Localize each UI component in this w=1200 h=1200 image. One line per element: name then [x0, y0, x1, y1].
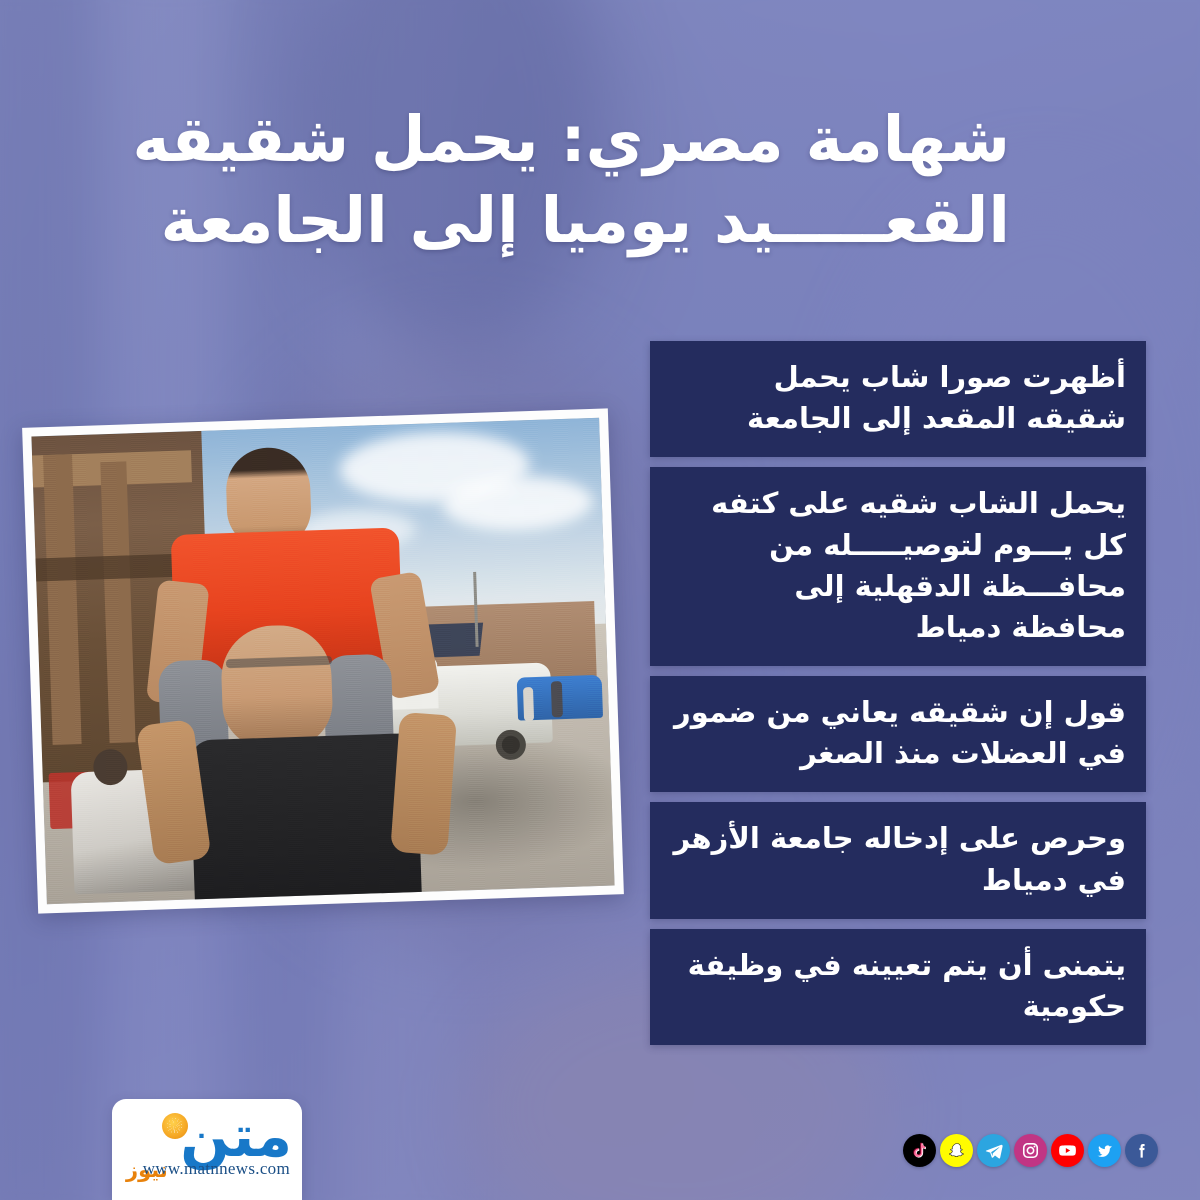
fact-box: قول إن شقيقه يعاني من ضمور في العضلات من…	[650, 676, 1146, 792]
logo-wordmark: متن	[180, 1107, 292, 1165]
social-links	[903, 1134, 1158, 1167]
youtube-icon[interactable]	[1051, 1134, 1084, 1167]
fact-box: أظهرت صورا شاب يحمل شقيقه المقعد إلى الج…	[650, 341, 1146, 457]
news-photo	[31, 418, 614, 905]
facebook-icon[interactable]	[1125, 1134, 1158, 1167]
fact-box: وحرص على إدخاله جامعة الأزهر في دمياط	[650, 802, 1146, 918]
headline-line-2: القعـــــيد يوميا إلى الجامعة	[180, 181, 1010, 262]
site-logo[interactable]: متن نيوز www.matnnews.com	[112, 1099, 302, 1200]
snapchat-icon[interactable]	[940, 1134, 973, 1167]
page-title: شهامة مصري: يحمل شقيقه القعـــــيد يوميا…	[180, 100, 1010, 261]
infographic-poster: شهامة مصري: يحمل شقيقه القعـــــيد يوميا…	[0, 0, 1200, 1200]
twitter-icon[interactable]	[1088, 1134, 1121, 1167]
fact-box: يتمنى أن يتم تعيينه في وظيفة حكومية	[650, 929, 1146, 1045]
instagram-icon[interactable]	[1014, 1134, 1047, 1167]
photo-grain-overlay	[31, 418, 614, 905]
fact-list: أظهرت صورا شاب يحمل شقيقه المقعد إلى الج…	[650, 341, 1146, 1055]
logo-inner: متن نيوز www.matnnews.com	[112, 1099, 302, 1200]
fact-box: يحمل الشاب شقيه على كتفه كل يـــوم لتوصي…	[650, 467, 1146, 666]
headline-line-1: شهامة مصري: يحمل شقيقه	[180, 100, 1010, 181]
telegram-icon[interactable]	[977, 1134, 1010, 1167]
tiktok-icon[interactable]	[903, 1134, 936, 1167]
logo-website-url: www.matnnews.com	[143, 1159, 290, 1179]
news-photo-frame	[22, 408, 624, 913]
